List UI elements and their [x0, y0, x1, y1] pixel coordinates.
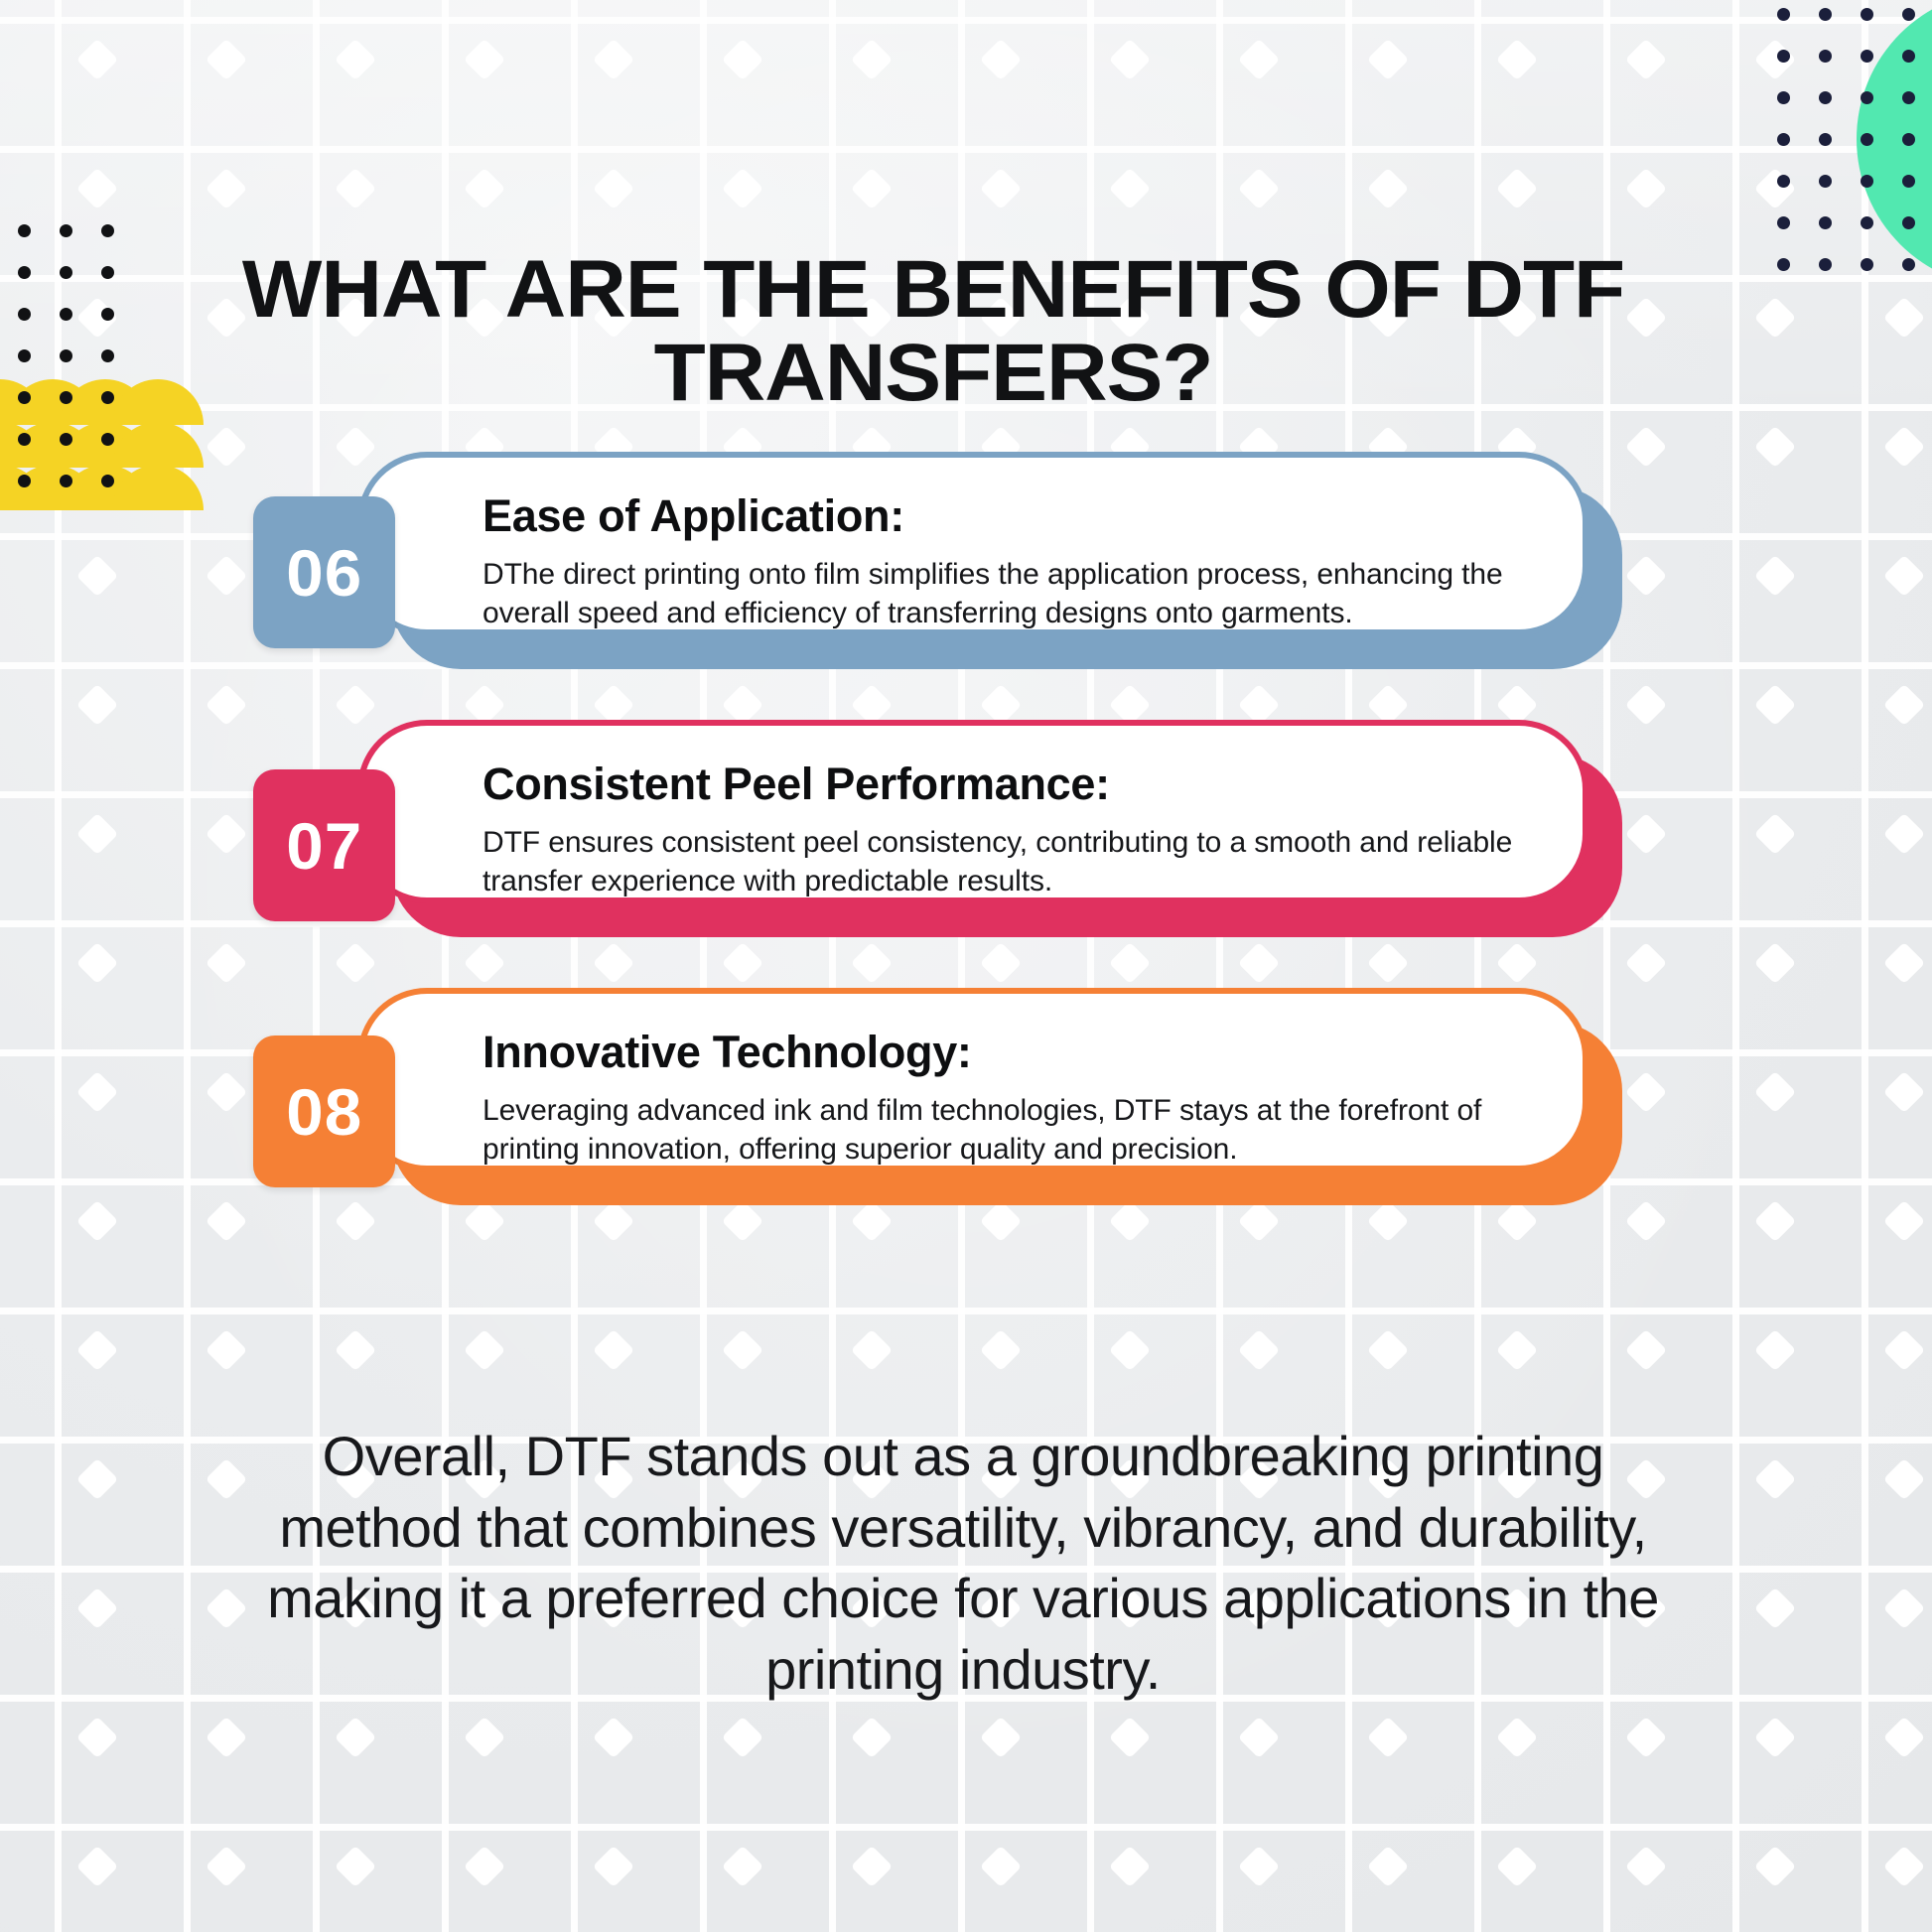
page-title-line-2: TRANSFERS?	[654, 328, 1213, 418]
grid-diamond	[980, 1200, 1022, 1242]
grid-diamond	[1883, 813, 1925, 855]
decorative-dot	[1777, 50, 1790, 63]
grid-diamond	[1754, 1071, 1796, 1113]
decorative-dot	[1861, 8, 1873, 21]
grid-diamond	[593, 1717, 634, 1758]
grid-diamond	[1367, 1329, 1409, 1371]
grid-diamond	[851, 1329, 893, 1371]
grid-diamond	[206, 1071, 247, 1113]
grid-diamond	[1883, 1717, 1925, 1758]
grid-diamond	[1883, 1587, 1925, 1629]
grid-diamond	[1109, 168, 1151, 209]
card-number-label: 08	[286, 1074, 362, 1150]
grid-diamond	[76, 1717, 118, 1758]
decorative-dot	[1819, 8, 1832, 21]
grid-diamond	[593, 168, 634, 209]
grid-diamond	[335, 39, 376, 80]
decorative-dot	[1777, 258, 1790, 271]
grid-diamond	[980, 942, 1022, 984]
grid-diamond	[1754, 1458, 1796, 1500]
grid-diamond	[464, 1846, 505, 1887]
grid-diamond	[76, 1200, 118, 1242]
grid-diamond	[593, 1329, 634, 1371]
grid-diamond	[76, 813, 118, 855]
grid-diamond	[1754, 1717, 1796, 1758]
grid-diamond	[76, 1846, 118, 1887]
grid-diamond	[76, 1458, 118, 1500]
grid-diamond	[76, 39, 118, 80]
decorative-dot	[1902, 50, 1915, 63]
grid-diamond	[722, 39, 763, 80]
decorative-dot	[1902, 133, 1915, 146]
card-body-panel: Ease of Application:DThe direct printing…	[357, 452, 1588, 635]
card-number-label: 06	[286, 535, 362, 611]
grid-diamond	[76, 942, 118, 984]
grid-diamond	[1496, 1200, 1538, 1242]
grid-diamond	[722, 942, 763, 984]
grid-diamond	[1625, 555, 1667, 597]
grid-diamond	[980, 1329, 1022, 1371]
decorative-dot	[1777, 8, 1790, 21]
grid-diamond	[1496, 1846, 1538, 1887]
decorative-dot	[18, 224, 31, 237]
infographic-canvas: WHAT ARE THE BENEFITS OF DTF TRANSFERS? …	[0, 0, 1932, 1932]
grid-diamond	[722, 1717, 763, 1758]
grid-diamond	[980, 1846, 1022, 1887]
grid-diamond	[206, 168, 247, 209]
grid-diamond	[1883, 1458, 1925, 1500]
grid-diamond	[722, 168, 763, 209]
grid-diamond	[206, 1458, 247, 1500]
grid-diamond	[593, 942, 634, 984]
grid-diamond	[1367, 1846, 1409, 1887]
conclusion-paragraph: Overall, DTF stands out as a groundbreak…	[248, 1421, 1678, 1706]
grid-diamond	[980, 39, 1022, 80]
grid-diamond	[1238, 168, 1280, 209]
page-title: WHAT ARE THE BENEFITS OF DTF TRANSFERS?	[201, 248, 1667, 416]
decorative-dot	[1861, 175, 1873, 188]
decorative-dot	[1861, 133, 1873, 146]
decorative-dot	[1902, 175, 1915, 188]
grid-diamond	[1883, 1200, 1925, 1242]
card-number-badge: 06	[253, 496, 395, 648]
card-title: Innovative Technology:	[483, 1028, 1519, 1077]
decorative-dot	[1819, 175, 1832, 188]
grid-diamond	[1109, 1200, 1151, 1242]
grid-diamond	[206, 39, 247, 80]
grid-diamond	[1496, 942, 1538, 984]
grid-diamond	[206, 1587, 247, 1629]
grid-diamond	[76, 168, 118, 209]
grid-diamond	[593, 1846, 634, 1887]
grid-diamond	[1109, 1846, 1151, 1887]
grid-diamond	[335, 684, 376, 726]
grid-diamond	[1625, 1071, 1667, 1113]
decorative-dot	[1902, 8, 1915, 21]
grid-diamond	[206, 1846, 247, 1887]
grid-diamond	[335, 942, 376, 984]
grid-diamond	[335, 1329, 376, 1371]
grid-diamond	[76, 1587, 118, 1629]
grid-diamond	[206, 813, 247, 855]
grid-diamond	[464, 1717, 505, 1758]
grid-diamond	[1754, 942, 1796, 984]
grid-diamond	[1238, 39, 1280, 80]
grid-diamond	[851, 1200, 893, 1242]
grid-diamond	[335, 426, 376, 468]
decorative-dot	[18, 433, 31, 446]
decorative-dot	[1861, 91, 1873, 104]
grid-diamond	[1625, 39, 1667, 80]
card-description: DThe direct printing onto film simplifie…	[483, 555, 1519, 634]
decorative-dot	[101, 224, 114, 237]
decorative-dot	[101, 349, 114, 362]
grid-diamond	[851, 942, 893, 984]
grid-diamond	[206, 942, 247, 984]
decorative-dot	[60, 349, 72, 362]
grid-diamond	[1625, 942, 1667, 984]
grid-diamond	[335, 1846, 376, 1887]
grid-diamond	[1496, 1717, 1538, 1758]
grid-diamond	[1883, 1846, 1925, 1887]
grid-diamond	[1238, 942, 1280, 984]
grid-diamond	[1625, 426, 1667, 468]
grid-diamond	[593, 1200, 634, 1242]
grid-diamond	[1883, 297, 1925, 339]
grid-diamond	[1625, 1200, 1667, 1242]
card-title: Ease of Application:	[483, 491, 1519, 541]
grid-diamond	[1883, 555, 1925, 597]
decorative-dot	[60, 475, 72, 487]
grid-diamond	[76, 1071, 118, 1113]
grid-diamond	[1367, 1200, 1409, 1242]
grid-diamond	[1754, 297, 1796, 339]
decorative-dot	[18, 391, 31, 404]
grid-diamond	[1238, 1200, 1280, 1242]
grid-diamond	[1883, 1329, 1925, 1371]
grid-diamond	[464, 1200, 505, 1242]
grid-diamond	[1238, 1329, 1280, 1371]
grid-diamond	[206, 1200, 247, 1242]
grid-diamond	[1496, 39, 1538, 80]
grid-diamond	[1625, 813, 1667, 855]
decorative-dot	[1819, 216, 1832, 229]
grid-diamond	[206, 555, 247, 597]
grid-diamond	[1754, 426, 1796, 468]
grid-diamond	[980, 168, 1022, 209]
grid-diamond	[76, 1329, 118, 1371]
grid-diamond	[464, 942, 505, 984]
grid-diamond	[1496, 1329, 1538, 1371]
grid-diamond	[1883, 426, 1925, 468]
grid-diamond	[335, 1200, 376, 1242]
grid-diamond	[593, 39, 634, 80]
decorative-dot	[1861, 258, 1873, 271]
decorative-dot	[1819, 50, 1832, 63]
grid-diamond	[722, 1200, 763, 1242]
grid-diamond	[206, 426, 247, 468]
decorative-dot	[18, 308, 31, 321]
decorative-dot	[60, 391, 72, 404]
decorative-dot	[101, 308, 114, 321]
grid-diamond	[851, 1846, 893, 1887]
grid-diamond	[1754, 1587, 1796, 1629]
grid-diamond	[1754, 1329, 1796, 1371]
grid-diamond	[851, 168, 893, 209]
grid-diamond	[1754, 1200, 1796, 1242]
decorative-dot	[60, 224, 72, 237]
grid-diamond	[1367, 1717, 1409, 1758]
grid-diamond	[464, 1329, 505, 1371]
card-title: Consistent Peel Performance:	[483, 759, 1519, 809]
decorative-dot	[101, 475, 114, 487]
decorative-dot	[1777, 216, 1790, 229]
grid-diamond	[851, 1717, 893, 1758]
card-description: DTF ensures consistent peel consistency,…	[483, 823, 1519, 902]
decorative-dot	[101, 266, 114, 279]
decorative-dot	[18, 475, 31, 487]
grid-diamond	[1625, 1329, 1667, 1371]
decorative-dot	[60, 308, 72, 321]
grid-diamond	[1754, 813, 1796, 855]
decorative-dot	[1819, 133, 1832, 146]
grid-diamond	[76, 555, 118, 597]
grid-diamond	[1883, 942, 1925, 984]
grid-diamond	[1367, 39, 1409, 80]
decorative-dot	[1902, 216, 1915, 229]
decorative-dot	[1902, 91, 1915, 104]
grid-diamond	[1754, 1846, 1796, 1887]
grid-diamond	[1496, 168, 1538, 209]
decorative-dot	[1777, 175, 1790, 188]
decorative-dot	[101, 433, 114, 446]
grid-diamond	[464, 168, 505, 209]
card-body-panel: Innovative Technology:Leveraging advance…	[357, 988, 1588, 1172]
decorative-dot	[18, 266, 31, 279]
grid-diamond	[1754, 555, 1796, 597]
decorative-dot	[18, 349, 31, 362]
decorative-dot	[1819, 258, 1832, 271]
grid-diamond	[464, 39, 505, 80]
grid-diamond	[1754, 39, 1796, 80]
grid-diamond	[722, 1846, 763, 1887]
grid-diamond	[1754, 168, 1796, 209]
decorative-dot	[1861, 216, 1873, 229]
grid-diamond	[1625, 1717, 1667, 1758]
grid-diamond	[76, 684, 118, 726]
grid-diamond	[1883, 1071, 1925, 1113]
decorative-dot	[1777, 91, 1790, 104]
grid-diamond	[980, 1717, 1022, 1758]
grid-diamond	[335, 168, 376, 209]
grid-diamond	[722, 1329, 763, 1371]
grid-diamond	[1109, 1717, 1151, 1758]
card-description: Leveraging advanced ink and film technol…	[483, 1091, 1519, 1171]
grid-diamond	[335, 1717, 376, 1758]
grid-diamond	[206, 1329, 247, 1371]
grid-diamond	[1109, 942, 1151, 984]
grid-diamond	[1625, 684, 1667, 726]
decorative-dot	[1777, 133, 1790, 146]
decorative-dot	[1902, 258, 1915, 271]
grid-diamond	[1625, 168, 1667, 209]
decorative-dot	[60, 433, 72, 446]
card-body-panel: Consistent Peel Performance:DTF ensures …	[357, 720, 1588, 903]
decorative-dot	[101, 391, 114, 404]
grid-diamond	[1625, 1846, 1667, 1887]
grid-diamond	[851, 39, 893, 80]
decorative-dot	[1819, 91, 1832, 104]
grid-diamond	[1883, 684, 1925, 726]
decorative-dot	[1861, 50, 1873, 63]
grid-diamond	[1367, 168, 1409, 209]
card-number-badge: 07	[253, 769, 395, 921]
grid-diamond	[1109, 39, 1151, 80]
grid-diamond	[1238, 1717, 1280, 1758]
grid-diamond	[206, 1717, 247, 1758]
page-title-line-1: WHAT ARE THE BENEFITS OF DTF	[242, 244, 1624, 335]
grid-diamond	[1109, 1329, 1151, 1371]
grid-diamond	[1367, 942, 1409, 984]
card-number-badge: 08	[253, 1035, 395, 1187]
decorative-dot	[60, 266, 72, 279]
card-number-label: 07	[286, 808, 362, 884]
grid-diamond	[1238, 1846, 1280, 1887]
grid-diamond	[1754, 684, 1796, 726]
grid-diamond	[206, 684, 247, 726]
